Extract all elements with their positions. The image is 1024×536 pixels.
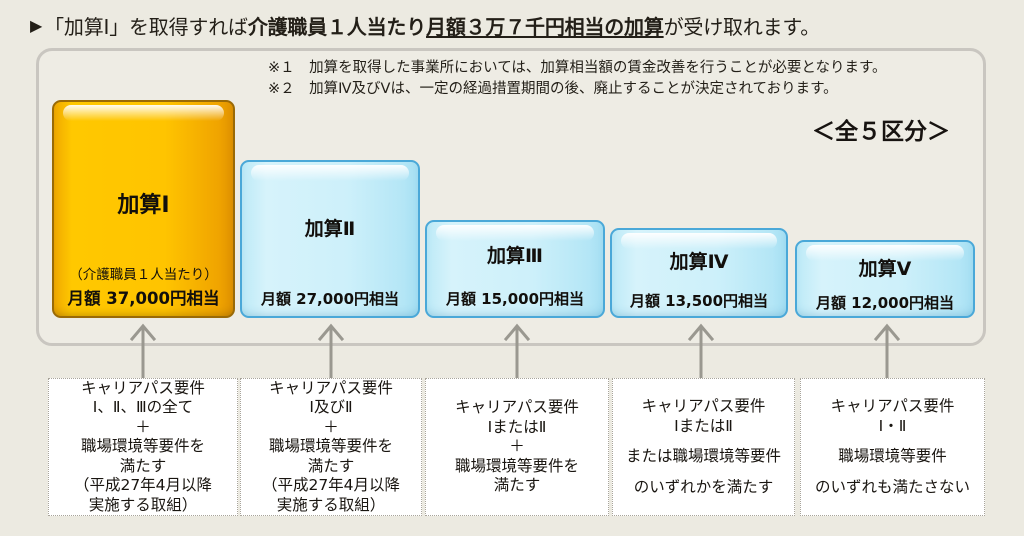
bar-amount: 月額 13,500円相当	[612, 290, 786, 311]
bar-gloss	[436, 225, 594, 241]
bar-amount: 月額 15,000円相当	[427, 288, 603, 309]
requirement-line: 満たす	[120, 457, 167, 477]
note-1: ※１ 加算を取得した事業所においては、加算相当額の賃金改善を行うことが必要となり…	[268, 58, 1008, 79]
requirement-line: 職場環境等要件を	[455, 457, 579, 477]
bar-kasan-3: 加算Ⅲ 月額 15,000円相当	[425, 220, 605, 318]
bar-kasan-2: 加算Ⅱ 月額 27,000円相当	[240, 160, 420, 318]
arrow-up-icon	[128, 318, 158, 380]
requirement-box-2: キャリアパス要件 Ⅰ及びⅡ ＋ 職場環境等要件を 満たす （平成27年4月以降 …	[240, 378, 422, 516]
requirement-line: （平成27年4月以降	[74, 476, 212, 496]
requirement-line: Ⅰ及びⅡ	[309, 398, 352, 418]
requirement-line: 満たす	[308, 457, 355, 477]
notes-block: ※１ 加算を取得した事業所においては、加算相当額の賃金改善を行うことが必要となり…	[268, 58, 1008, 100]
category-count-label: ＜全５区分＞	[812, 112, 950, 146]
infographic-root: ▶ 「加算Ⅰ」を取得すれば 介護職員１人当たり 月額３万７千円相当の加算 が受け…	[0, 0, 1024, 536]
page-title: ▶ 「加算Ⅰ」を取得すれば 介護職員１人当たり 月額３万７千円相当の加算 が受け…	[30, 8, 1010, 42]
requirement-line: 実施する取組）	[277, 496, 386, 516]
requirement-line: （平成27年4月以降	[262, 476, 400, 496]
bar-title: 加算Ⅱ	[242, 214, 418, 241]
requirement-line: のいずれかを満たす	[634, 478, 774, 498]
requirement-line: キャリアパス要件	[642, 397, 766, 417]
requirement-box-3: キャリアパス要件 ⅠまたはⅡ ＋ 職場環境等要件を 満たす	[425, 378, 609, 516]
requirement-line: ＋	[509, 437, 525, 457]
requirement-line: または職場環境等要件	[626, 447, 781, 467]
bar-title: 加算Ⅰ	[54, 187, 233, 219]
headline-part-2: 介護職員１人当たり	[248, 11, 426, 40]
bar-kasan-1: 加算Ⅰ （介護職員１人当たり） 月額 37,000円相当	[52, 100, 235, 318]
requirement-line: ⅠまたはⅡ	[488, 418, 547, 438]
bar-title: 加算Ⅳ	[612, 247, 786, 274]
bar-title: 加算Ⅲ	[427, 241, 603, 268]
requirement-line: ＋	[135, 418, 151, 438]
triangle-bullet-icon: ▶	[30, 16, 42, 35]
requirement-line: のいずれも満たさない	[815, 478, 970, 498]
arrow-up-icon	[686, 318, 716, 380]
requirement-box-5: キャリアパス要件 Ⅰ・Ⅱ 職場環境等要件 のいずれも満たさない	[800, 378, 985, 516]
bar-amount: 月額 37,000円相当	[54, 285, 233, 309]
arrow-up-icon	[316, 318, 346, 380]
bar-note: （介護職員１人当たり）	[54, 263, 233, 283]
bar-amount: 月額 12,000円相当	[797, 292, 973, 313]
requirement-line: 満たす	[494, 476, 541, 496]
bar-gloss	[251, 165, 409, 181]
arrow-up-icon	[502, 318, 532, 380]
requirement-line: ＋	[323, 418, 339, 438]
arrow-up-icon	[872, 318, 902, 380]
requirement-line: Ⅰ、Ⅱ、Ⅲの全て	[93, 398, 193, 418]
requirement-line: ⅠまたはⅡ	[674, 417, 733, 437]
requirement-line: 職場環境等要件を	[269, 437, 393, 457]
requirement-line: Ⅰ・Ⅱ	[879, 417, 907, 437]
requirement-line: 職場環境等要件を	[81, 437, 205, 457]
note-2: ※２ 加算Ⅳ及びⅤは、一定の経過措置期間の後、廃止することが決定されております。	[268, 79, 1008, 100]
requirement-line: 実施する取組）	[89, 496, 198, 516]
bar-kasan-5: 加算Ⅴ 月額 12,000円相当	[795, 240, 975, 318]
bar-title: 加算Ⅴ	[797, 254, 973, 281]
requirement-box-1: キャリアパス要件 Ⅰ、Ⅱ、Ⅲの全て ＋ 職場環境等要件を 満たす （平成27年4…	[48, 378, 238, 516]
headline-part-3: 月額３万７千円相当の加算	[426, 11, 664, 40]
requirement-box-4: キャリアパス要件 ⅠまたはⅡ または職場環境等要件 のいずれかを満たす	[612, 378, 795, 516]
bar-gloss	[63, 105, 224, 121]
requirement-line: キャリアパス要件	[455, 398, 579, 418]
requirement-line: 職場環境等要件	[838, 447, 947, 467]
bar-amount: 月額 27,000円相当	[242, 288, 418, 309]
requirement-line: キャリアパス要件	[269, 379, 393, 399]
headline-part-1: 「加算Ⅰ」を取得すれば	[44, 11, 248, 40]
requirement-line: キャリアパス要件	[831, 397, 955, 417]
bar-kasan-4: 加算Ⅳ 月額 13,500円相当	[610, 228, 788, 318]
headline-part-4: が受け取れます。	[664, 11, 820, 40]
requirement-line: キャリアパス要件	[81, 379, 205, 399]
